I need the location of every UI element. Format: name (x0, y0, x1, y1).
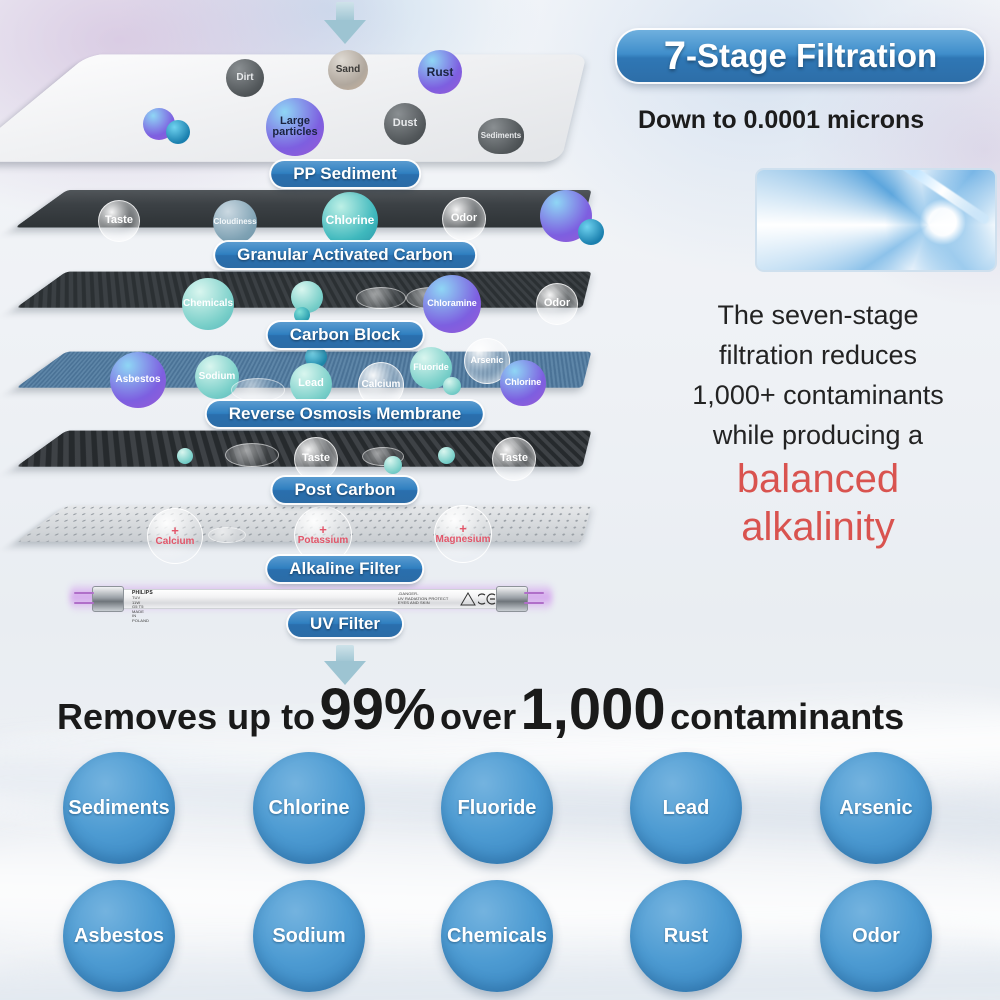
bubble-label: Sodium (199, 372, 236, 382)
headline-part: contaminants (670, 696, 904, 737)
bubble-label: Lead (298, 378, 324, 389)
bubble-label: Asbestos (115, 375, 160, 385)
bubble-large-particles: Large particles (266, 98, 324, 156)
disc-decorative (225, 443, 279, 467)
badge-text: -Stage Filtration (686, 37, 937, 75)
infographic-page: Dirt Sand Rust Large particles Dust Sedi… (0, 0, 1000, 1000)
description-paragraph: The seven-stage filtration reduces 1,000… (640, 295, 996, 551)
badge-number: 7 (664, 34, 686, 79)
pill-label: Carbon Block (290, 325, 401, 344)
contaminant-label: Chemicals (447, 925, 547, 948)
headline-percent: 99% (320, 677, 436, 742)
contaminant-rust[interactable]: Rust (630, 880, 742, 992)
bubble-odor: Odor (442, 197, 486, 241)
paragraph-line: 1,000+ contaminants (640, 375, 996, 415)
contaminant-label: Sediments (68, 797, 169, 820)
bubble-dirt: Dirt (226, 59, 264, 97)
bubble-label: Chloramine (427, 299, 477, 308)
label-alkaline-filter: Alkaline Filter (267, 556, 422, 582)
filter-stack: Dirt Sand Rust Large particles Dust Sedi… (0, 0, 640, 660)
bubble-label: Cloudiness (213, 218, 256, 226)
contaminant-label: Rust (664, 925, 708, 948)
plus-sign: + (171, 526, 179, 536)
contaminant-chlorine[interactable]: Chlorine (253, 752, 365, 864)
removal-headline: Removes up to 99% over 1,000 contaminant… (57, 676, 904, 743)
label-pp-sediment: PP Sediment (271, 161, 419, 187)
contaminant-arsenic[interactable]: Arsenic (820, 752, 932, 864)
mineral-label: Potassium (298, 535, 349, 546)
bubble-label: Sand (336, 65, 360, 75)
bubble-asbestos: Asbestos (110, 352, 166, 408)
contaminant-label: Fluoride (458, 797, 537, 820)
bubble-label: Taste (302, 453, 330, 464)
label-post-carbon: Post Carbon (272, 477, 417, 503)
uv-warning-body: UV RADIATION PROTECT EYES AND SKIN (398, 597, 458, 606)
disc-decorative (356, 287, 406, 309)
contaminant-chemicals[interactable]: Chemicals (441, 880, 553, 992)
plus-sign: + (459, 524, 467, 534)
uv-lamp-warning: -DANGER- UV RADIATION PROTECT EYES AND S… (398, 592, 458, 606)
highlight-alkalinity: alkalinity (640, 503, 996, 551)
plus-sign: + (319, 525, 327, 535)
contaminant-label: Asbestos (74, 925, 164, 948)
bubble-chloramine: Chloramine (423, 275, 481, 333)
headline-count: 1,000 (521, 677, 666, 742)
mineral-calcium: + Calcium (147, 508, 203, 564)
bubble-label: Odor (451, 213, 477, 224)
label-carbon-block: Carbon Block (268, 322, 423, 348)
pill-label: Post Carbon (294, 480, 395, 499)
highlight-balanced: balanced (640, 455, 996, 503)
pill-label: Granular Activated Carbon (237, 245, 453, 264)
bubble-label: Taste (500, 453, 528, 464)
bubble-chlorine: Chlorine (322, 192, 378, 248)
label-uv-filter: UV Filter (288, 611, 402, 637)
bubble-label: Sediments (481, 132, 521, 140)
contaminant-label: Chlorine (268, 797, 349, 820)
contaminant-label: Odor (852, 925, 900, 948)
contaminant-sediments[interactable]: Sediments (63, 752, 175, 864)
contaminant-sodium[interactable]: Sodium (253, 880, 365, 992)
contaminant-odor[interactable]: Odor (820, 880, 932, 992)
headline-part: over (440, 696, 516, 737)
bubble-label: Chlorine (505, 378, 542, 387)
bubble-dust: Dust (384, 103, 426, 145)
bubble-decorative (384, 456, 402, 474)
contaminant-asbestos[interactable]: Asbestos (63, 880, 175, 992)
paragraph-line: while producing a (640, 415, 996, 455)
bubble-rust: Rust (418, 50, 462, 94)
paragraph-line: filtration reduces (640, 335, 996, 375)
uv-beam-highlight (871, 168, 991, 226)
contaminant-fluoride[interactable]: Fluoride (441, 752, 553, 864)
bubble-label: Large particles (266, 116, 324, 138)
disc-decorative (231, 378, 285, 402)
bubble-sand: Sand (328, 50, 368, 90)
mineral-magnesium: + Magnesium (434, 505, 492, 563)
bubble-taste: Taste (492, 437, 536, 481)
bubble-decorative (438, 447, 455, 464)
stage-count-badge: 7 -Stage Filtration (617, 30, 984, 82)
bubble-decorative (578, 219, 604, 245)
bubble-chlorine: Chlorine (500, 360, 546, 406)
bubble-decorative (177, 448, 193, 464)
uv-lamp-spec: TUV 11W G5 T5 MADE IN POLAND (132, 596, 149, 623)
paragraph-line: The seven-stage (640, 295, 996, 335)
bubble-label: Chemicals (183, 299, 233, 309)
bubble-sediments: Sediments (478, 118, 524, 154)
bubble-chemicals: Chemicals (182, 278, 234, 330)
mineral-label: Magnesium (435, 534, 490, 545)
bubble-label: Arsenic (470, 356, 503, 365)
pill-label: UV Filter (310, 614, 380, 633)
contaminant-label: Arsenic (839, 797, 912, 820)
bubble-taste: Taste (98, 200, 140, 242)
label-granular-activated-carbon: Granular Activated Carbon (215, 242, 475, 268)
contaminant-label: Lead (663, 797, 710, 820)
pill-label: PP Sediment (293, 164, 397, 183)
contaminant-label: Sodium (272, 925, 345, 948)
uv-spec-line: MADE IN POLAND (132, 610, 149, 624)
bubble-decorative (443, 377, 461, 395)
bubble-label: Dust (393, 118, 417, 129)
bubble-label: Calcium (362, 380, 401, 390)
bubble-decorative (294, 307, 310, 323)
disc-decorative (208, 527, 246, 543)
label-reverse-osmosis-membrane: Reverse Osmosis Membrane (207, 401, 483, 427)
bubble-odor: Odor (536, 283, 578, 325)
bubble-lead: Lead (290, 363, 332, 405)
ce-mark-icon (478, 593, 500, 605)
water-swirl-image (755, 168, 997, 272)
bubble-taste: Taste (294, 437, 338, 481)
bubble-label: Rust (427, 66, 454, 78)
bubble-label: Dirt (236, 73, 253, 83)
contaminant-lead[interactable]: Lead (630, 752, 742, 864)
pill-label: Alkaline Filter (289, 559, 400, 578)
headline-part: Removes up to (57, 696, 315, 737)
bubble-label: Chlorine (326, 214, 375, 226)
radiation-warning-icon (460, 592, 476, 606)
micron-subheadline: Down to 0.0001 microns (638, 106, 924, 135)
bubble-label: Fluoride (413, 363, 449, 372)
bubble-label: Taste (105, 215, 133, 226)
bubble-decorative (166, 120, 190, 144)
mineral-label: Calcium (156, 536, 195, 547)
bubble-label: Odor (544, 298, 570, 309)
pill-label: Reverse Osmosis Membrane (229, 404, 461, 423)
bubble-cloudiness: Cloudiness (213, 200, 257, 244)
